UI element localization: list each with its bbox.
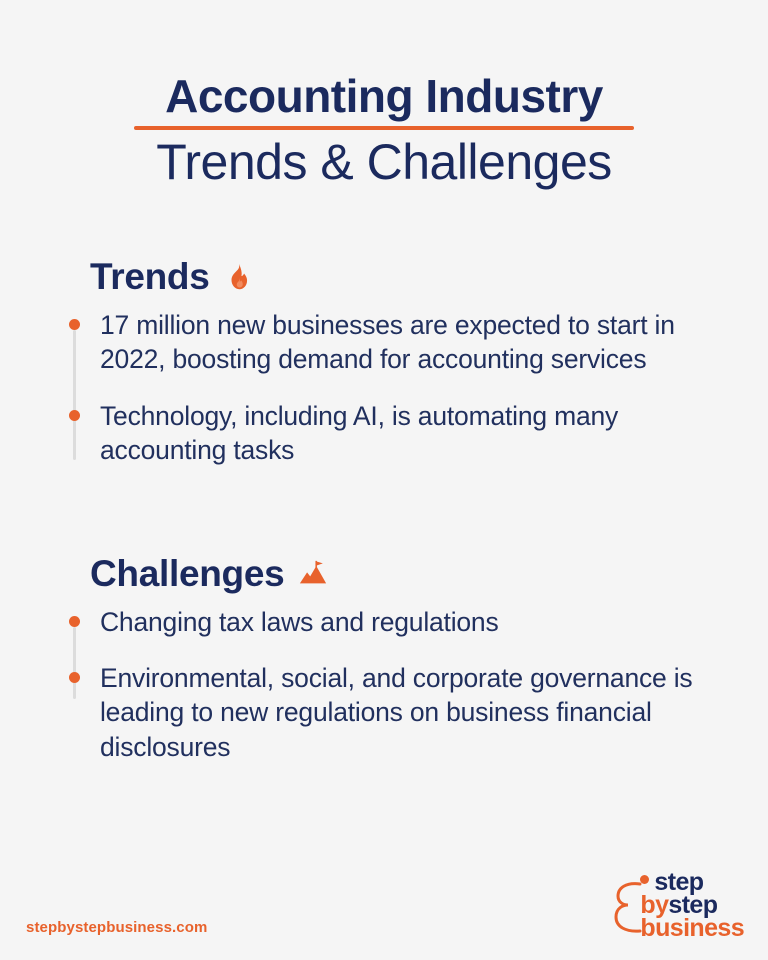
logo-swoosh-icon	[610, 874, 644, 938]
fire-icon	[222, 260, 256, 294]
section-heading-trends: Trends	[90, 256, 732, 298]
list-item: 17 million new businesses are expected t…	[60, 308, 732, 376]
mountain-flag-icon	[296, 557, 330, 591]
logo-wordmark: step by step business	[640, 871, 744, 940]
list-item-text: Environmental, social, and corporate gov…	[100, 663, 692, 761]
footer-website-url[interactable]: stepbystepbusiness.com	[26, 919, 207, 936]
section-heading-challenges: Challenges	[90, 553, 732, 595]
list-item: Technology, including AI, is automating …	[60, 399, 732, 467]
section-trends: Trends 17 million new businesses are exp…	[60, 256, 732, 467]
logo-line-3: business	[640, 917, 744, 940]
brand-logo[interactable]: step by step business	[610, 868, 744, 940]
list-item: Environmental, social, and corporate gov…	[60, 661, 732, 764]
section-challenges: Challenges Changing tax laws and regulat…	[60, 553, 732, 764]
list-item-text: Technology, including AI, is automating …	[100, 401, 618, 465]
list-item: Changing tax laws and regulations	[60, 605, 732, 639]
title-line-secondary: Trends & Challenges	[0, 134, 768, 190]
logo-word-business: business	[640, 917, 744, 940]
bullet-dot-icon	[69, 319, 80, 330]
bullet-list-challenges: Changing tax laws and regulations Enviro…	[60, 605, 732, 764]
bullet-dot-icon	[69, 616, 80, 627]
page-title: Accounting Industry Trends & Challenges	[0, 0, 768, 190]
content-area: Trends 17 million new businesses are exp…	[0, 256, 768, 763]
bullet-list-trends: 17 million new businesses are expected t…	[60, 308, 732, 467]
bullet-dot-icon	[69, 410, 80, 421]
section-heading-challenges-label: Challenges	[90, 553, 284, 595]
logo-dot-icon	[640, 875, 649, 884]
bullet-dot-icon	[69, 672, 80, 683]
list-item-text: 17 million new businesses are expected t…	[100, 310, 675, 374]
title-line-primary: Accounting Industry	[165, 72, 603, 120]
list-item-text: Changing tax laws and regulations	[100, 607, 499, 637]
title-underline-rule	[134, 126, 634, 130]
section-heading-trends-label: Trends	[90, 256, 210, 298]
